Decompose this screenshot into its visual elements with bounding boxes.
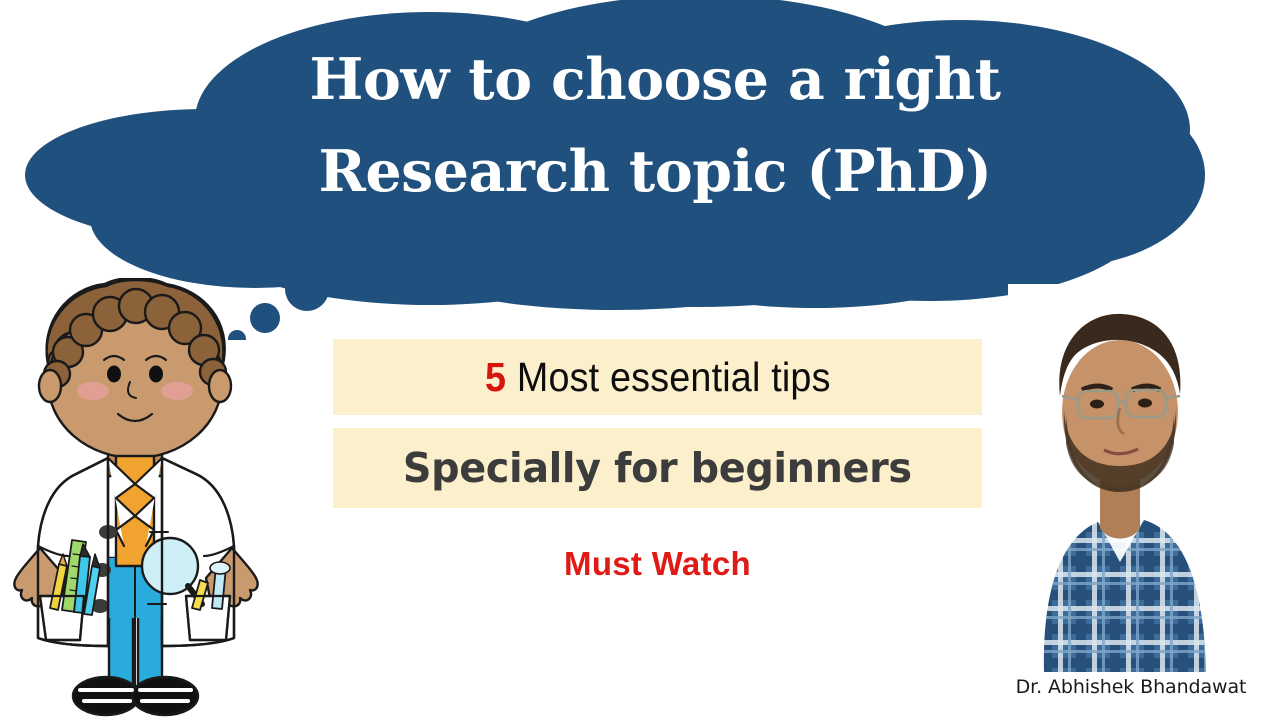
mascot-scientist-illustration: [10, 278, 260, 720]
must-watch-callout: Must Watch: [333, 545, 982, 583]
tips-banner-text: 5 Most essential tips: [485, 354, 831, 401]
mascot-eye-right: [149, 366, 163, 383]
page-title: How to choose a right Research topic (Ph…: [215, 34, 1095, 219]
presenter-portrait-svg: [1008, 284, 1226, 672]
mascot-ear-left: [39, 370, 61, 402]
presenter-name-caption: Dr. Abhishek Bhandawat: [982, 676, 1280, 698]
tips-banner: 5 Most essential tips: [333, 339, 982, 415]
mascot-svg: [10, 278, 260, 720]
title-line-2: Research topic (PhD): [215, 126, 1095, 218]
thought-trail-dot-large: [285, 267, 329, 311]
mascot-ear-right: [209, 370, 231, 402]
tips-count: 5: [485, 354, 506, 400]
mascot-blush-right: [161, 382, 193, 400]
presenter-eye-right: [1138, 399, 1152, 408]
presenter-photo: [1008, 284, 1226, 672]
beginners-banner-text: Specially for beginners: [403, 444, 912, 492]
presenter-eye-left: [1090, 400, 1104, 409]
beginners-banner: Specially for beginners: [333, 428, 982, 508]
thumbnail-canvas: How to choose a right Research topic (Ph…: [0, 0, 1280, 720]
mascot-eye-left: [107, 366, 121, 383]
mascot-blush-left: [77, 382, 109, 400]
title-line-1: How to choose a right: [215, 34, 1095, 126]
tips-label: Most essential tips: [506, 354, 830, 400]
